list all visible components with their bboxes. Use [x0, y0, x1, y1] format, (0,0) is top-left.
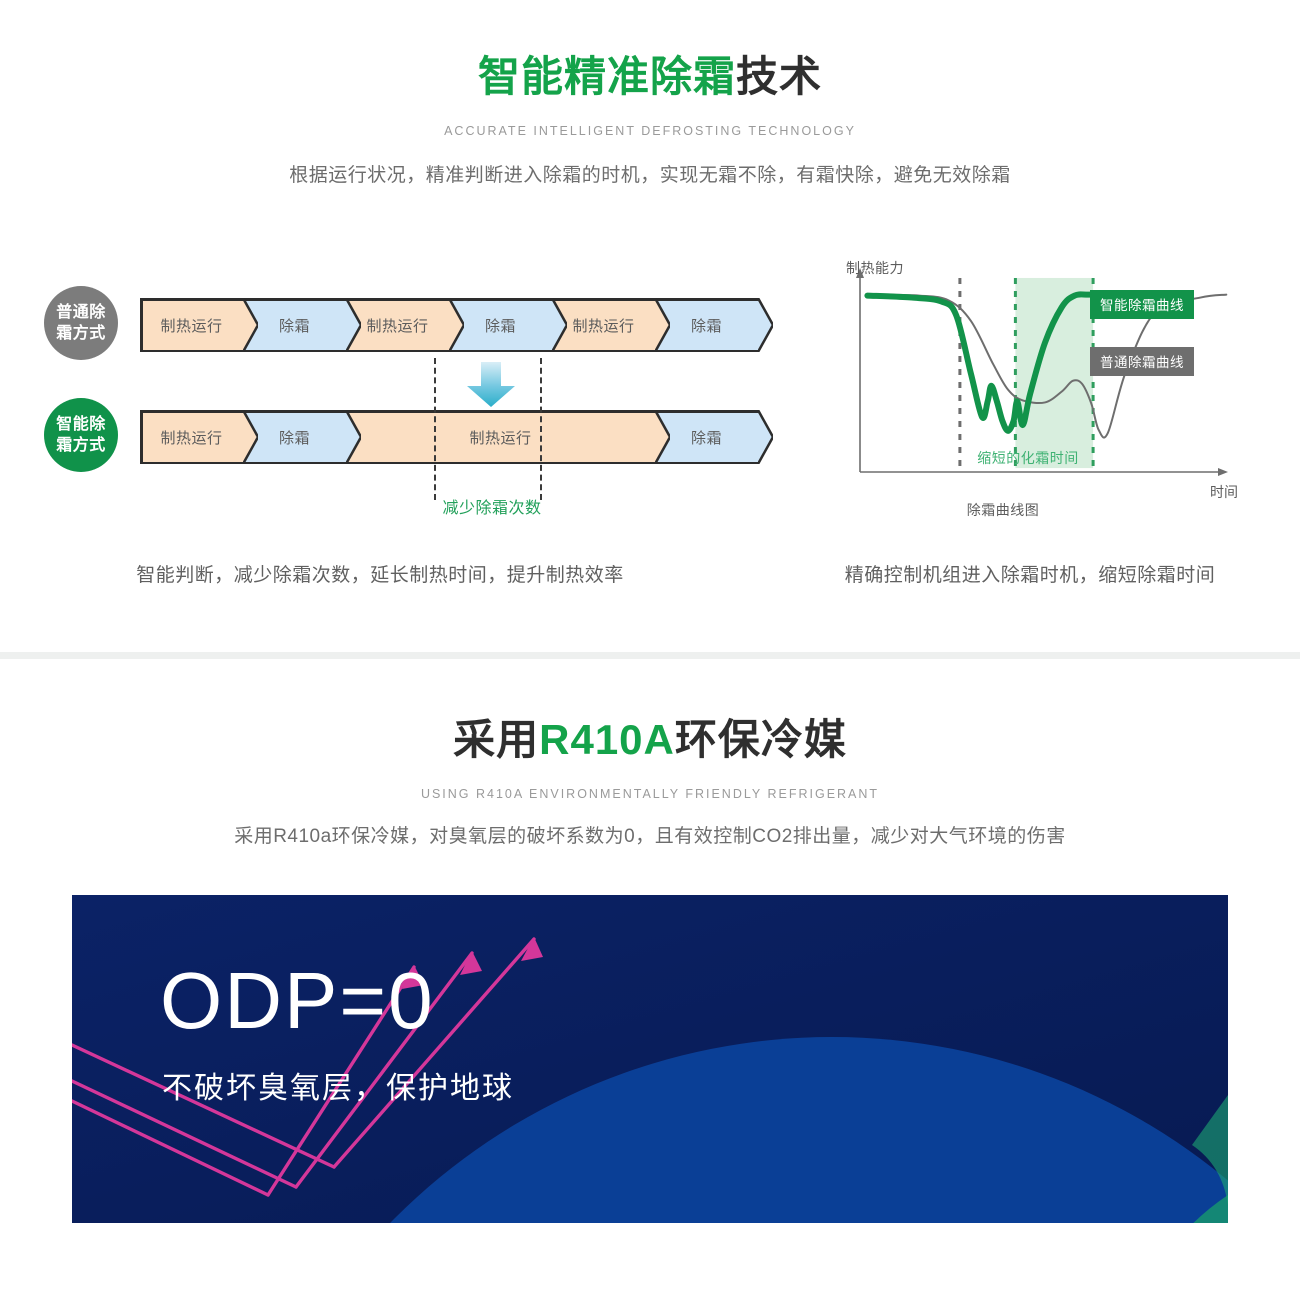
chart-x-axis-arrow: [1218, 468, 1228, 476]
caption-right: 精确控制机组进入除霜时机，缩短除霜时间: [790, 560, 1270, 587]
section2-subtitle-en: USING R410A ENVIRONMENTALLY FRIENDLY REF…: [0, 787, 1300, 801]
defrost-curve-chart: 制热能力 时间: [838, 258, 1258, 528]
section1-description: 根据运行状况，精准判断进入除霜的时机，实现无霜不除，有霜快除，避免无效除霜: [0, 160, 1300, 187]
section1-title-dark: 技术: [736, 53, 822, 100]
timeline-segment-defrost: 除霜: [243, 410, 361, 464]
section2-title-part1: 采用: [453, 716, 539, 763]
badge-smart-line1: 智能除: [56, 414, 106, 435]
section2-description: 采用R410a环保冷媒，对臭氧层的破坏系数为0，且有效控制CO2排出量，减少对大…: [0, 821, 1300, 848]
page-root: 智能精准除霜技术 ACCURATE INTELLIGENT DEFROSTING…: [0, 0, 1300, 1309]
timeline-segment-label: 除霜: [691, 427, 722, 448]
timeline-chevron-icon: [552, 298, 568, 352]
timeline-chevron-icon: [243, 298, 259, 352]
legend-normal-defrost-curve: 普通除霜曲线: [1090, 347, 1194, 376]
chart-y-axis-label: 制热能力: [846, 258, 904, 278]
badge-smart-defrost-mode: 智能除 霜方式: [44, 398, 118, 472]
badge-normal-line1: 普通除: [56, 302, 106, 323]
odp-subtext: 不破坏臭氧层，保护地球: [162, 1063, 514, 1107]
timeline-chevron-icon: [346, 410, 362, 464]
timeline-segment-label: 制热运行: [366, 315, 428, 336]
caption-left: 智能判断，减少除霜次数，延长制热时间，提升制热效率: [0, 560, 760, 587]
refrigerant-section: 采用R410A环保冷媒 USING R410A ENVIRONMENTALLY …: [0, 659, 1300, 1309]
timeline-segment-heating: 制热运行: [346, 298, 464, 352]
section-divider: [0, 652, 1300, 659]
defrost-technology-section: 智能精准除霜技术 ACCURATE INTELLIGENT DEFROSTING…: [0, 0, 1300, 652]
timeline-segment-label: 除霜: [691, 315, 722, 336]
timeline-segment-heating: 制热运行: [140, 410, 258, 464]
reduce-defrost-count-note: 减少除霜次数: [352, 494, 632, 518]
timeline-segment-label: 除霜: [279, 427, 310, 448]
defrost-timeline-diagram: 普通除 霜方式 智能除 霜方式 制热运行除霜制热运行除霜制热运行除霜 制热运行除…: [30, 258, 790, 528]
timeline-segment-defrost: 除霜: [655, 410, 773, 464]
timeline-segment-label: 制热运行: [572, 315, 634, 336]
section1-title-green: 智能精准除霜: [478, 53, 736, 100]
timeline-segment-defrost: 除霜: [655, 298, 773, 352]
badge-normal-line2: 霜方式: [56, 323, 106, 344]
badge-normal-defrost-mode: 普通除 霜方式: [44, 286, 118, 360]
timeline-segment-defrost: 除霜: [243, 298, 361, 352]
timeline-row-smart: 制热运行除霜制热运行除霜: [140, 410, 773, 464]
section1-subtitle-en: ACCURATE INTELLIGENT DEFROSTING TECHNOLO…: [0, 124, 1300, 138]
timeline-segment-heating: 制热运行: [346, 410, 670, 464]
odp-value-text: ODP=0: [160, 961, 435, 1041]
timeline-chevron-icon: [655, 298, 671, 352]
timeline-track-left-edge: [140, 410, 143, 464]
section2-title-green: R410A: [539, 716, 675, 763]
timeline-segment-heating: 制热运行: [552, 298, 670, 352]
legend-smart-defrost-curve: 智能除霜曲线: [1090, 290, 1194, 319]
section2-title: 采用R410A环保冷媒: [0, 719, 1300, 761]
timeline-chevron-icon: [758, 298, 774, 352]
timeline-dashed-marker-right: [540, 358, 542, 500]
timeline-segment-label: 除霜: [485, 315, 516, 336]
chart-title: 除霜曲线图: [838, 500, 1168, 520]
shortened-defrost-time-note: 缩短的化霜时间: [898, 448, 1158, 468]
chart-highlight-band: [1015, 278, 1093, 468]
timeline-chevron-icon: [243, 410, 259, 464]
timeline-chevron-icon: [655, 410, 671, 464]
timeline-segment-label: 除霜: [279, 315, 310, 336]
timeline-row-normal: 制热运行除霜制热运行除霜制热运行除霜: [140, 298, 773, 352]
chart-x-axis-label: 时间: [1210, 482, 1238, 502]
earth-illustration: [72, 895, 1228, 1223]
timeline-chevron-icon: [346, 298, 362, 352]
timeline-segment-label: 制热运行: [469, 427, 531, 448]
down-arrow-icon: [466, 362, 516, 408]
timeline-track-left-edge: [140, 298, 143, 352]
timeline-segment-label: 制热运行: [160, 315, 222, 336]
section1-title: 智能精准除霜技术: [0, 56, 1300, 98]
timeline-chevron-icon: [758, 410, 774, 464]
timeline-segment-defrost: 除霜: [449, 298, 567, 352]
timeline-chevron-icon: [449, 298, 465, 352]
ozone-hero-image: ODP=0 不破坏臭氧层，保护地球: [72, 895, 1228, 1223]
timeline-segment-label: 制热运行: [160, 427, 222, 448]
section2-title-part2: 环保冷媒: [675, 716, 847, 763]
timeline-dashed-marker-left: [434, 358, 436, 500]
badge-smart-line2: 霜方式: [56, 435, 106, 456]
timeline-segment-heating: 制热运行: [140, 298, 258, 352]
chart-canvas: [838, 258, 1258, 508]
